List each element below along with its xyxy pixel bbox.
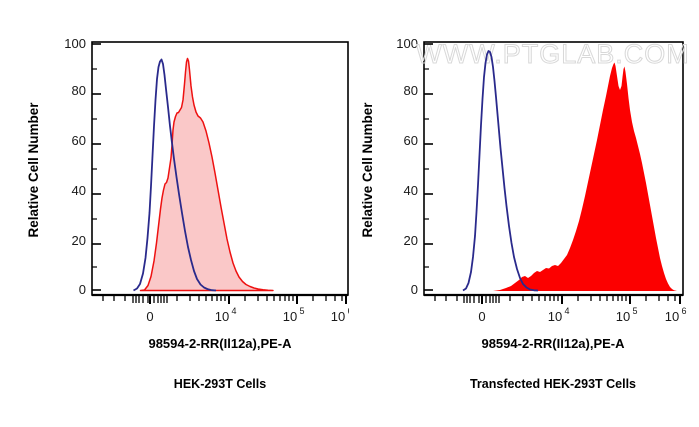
y-tick-label-100: 100 (396, 36, 418, 51)
panel-transfected-hek293t: Relative Cell Number 100 80 60 40 20 0 W… (350, 0, 699, 427)
y-tick-label-100: 100 (64, 36, 86, 51)
x-tick-mantissa-1e6: 10 (331, 309, 345, 324)
x-tick-label-0: 0 (478, 309, 485, 324)
y-tick-label-60: 60 (404, 133, 418, 148)
panel-caption-left: HEK-293T Cells (174, 377, 266, 391)
plot-left: Relative Cell Number 100 80 60 40 20 0 (0, 0, 349, 427)
flow-cytometry-figure: Relative Cell Number 100 80 60 40 20 0 (0, 0, 699, 427)
x-tick-mantissa-1e6: 10 (665, 309, 679, 324)
x-tick-exponent-1e6: 6 (681, 306, 686, 316)
y-axis-label-left: Relative Cell Number (26, 102, 41, 238)
x-tick-label-1e4: 10 4 (548, 306, 570, 324)
x-tick-exponent-1e6: 6 (347, 306, 349, 316)
x-axis-label-left: 98594-2-RR(Il12a),PE-A (148, 336, 292, 351)
x-tick-label-1e4: 10 4 (215, 306, 237, 324)
y-tick-label-0: 0 (79, 282, 86, 297)
x-major-ticks-right (482, 295, 680, 304)
x-tick-label-0: 0 (146, 309, 153, 324)
x-tick-label-1e5: 10 5 (283, 306, 305, 324)
x-tick-mantissa-1e4: 10 (215, 309, 229, 324)
x-tick-label-1e6: 10 6 (331, 306, 349, 324)
y-tick-label-40: 40 (404, 183, 418, 198)
x-tick-exponent-1e5: 5 (299, 306, 304, 316)
x-minor-ticks-left (103, 295, 342, 303)
x-axis-label-right: 98594-2-RR(Il12a),PE-A (481, 336, 625, 351)
x-tick-exponent-1e4: 4 (564, 306, 569, 316)
y-tick-label-80: 80 (72, 83, 86, 98)
x-major-ticks-left (150, 295, 346, 304)
x-tick-exponent-1e4: 4 (231, 306, 236, 316)
x-tick-label-1e5: 10 5 (616, 306, 638, 324)
watermark: WWW.PTGLAB.COM (416, 39, 690, 69)
x-minor-ticks-right (435, 295, 675, 303)
x-tick-mantissa-1e4: 10 (548, 309, 562, 324)
x-tick-exponent-1e5: 5 (632, 306, 637, 316)
x-tick-mantissa-1e5: 10 (616, 309, 630, 324)
plot-right: Relative Cell Number 100 80 60 40 20 0 W… (350, 0, 699, 427)
y-tick-label-20: 20 (404, 233, 418, 248)
x-tick-mantissa-1e5: 10 (283, 309, 297, 324)
panel-hek293t: Relative Cell Number 100 80 60 40 20 0 (0, 0, 349, 427)
y-tick-label-0: 0 (411, 282, 418, 297)
y-axis-label-right: Relative Cell Number (360, 102, 375, 238)
y-tick-label-40: 40 (72, 183, 86, 198)
y-tick-label-80: 80 (404, 83, 418, 98)
y-tick-label-60: 60 (72, 133, 86, 148)
x-tick-label-1e6: 10 6 (665, 306, 687, 324)
y-tick-label-20: 20 (72, 233, 86, 248)
panel-caption-right: Transfected HEK-293T Cells (470, 377, 636, 391)
